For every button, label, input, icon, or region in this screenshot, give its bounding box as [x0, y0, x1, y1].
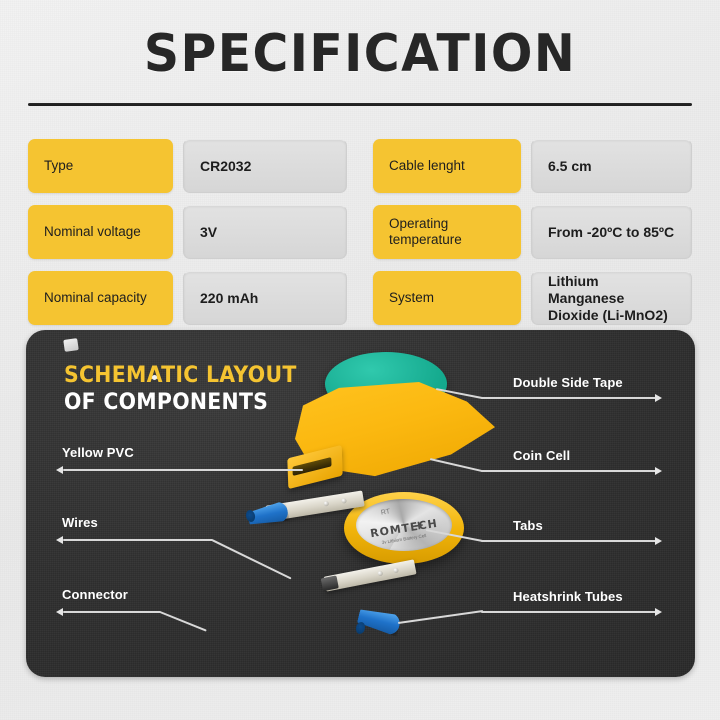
- schematic-panel: SCHEMATIC LAYOUT OF COMPONENTS RT ROMTEC…: [26, 330, 695, 677]
- tab-rivet: [377, 571, 383, 577]
- callout-arrow-left: [56, 536, 63, 544]
- title-divider: [28, 103, 692, 106]
- callout-arrow-right: [655, 467, 662, 475]
- page-root: SPECIFICATION Type CR2032 Cable lenght 6…: [0, 0, 720, 720]
- callout-label-coin-cell: Coin Cell: [513, 448, 570, 463]
- spec-row: Nominal capacity 220 mAh: [28, 271, 347, 325]
- tab-rivet: [323, 501, 329, 507]
- callout-arrow-right: [655, 394, 662, 402]
- callout-leader-yellow-pvc: [63, 469, 303, 471]
- connector-wing: [63, 338, 79, 352]
- spec-row: Nominal voltage 3V: [28, 205, 347, 259]
- callout-label-wires: Wires: [62, 515, 98, 530]
- spec-row: Type CR2032: [28, 139, 347, 193]
- spec-key: Nominal voltage: [28, 205, 173, 259]
- callout-arrow-left: [56, 608, 63, 616]
- callout-label-yellow-pvc: Yellow PVC: [62, 445, 134, 460]
- spec-value: 220 mAh: [183, 271, 347, 325]
- callout-arrow-left: [56, 466, 63, 474]
- callout-label-heatshrink-tubes: Heatshrink Tubes: [513, 589, 623, 604]
- callout-leader-double-side-tape: [481, 397, 657, 399]
- callout-leader-connector: [63, 611, 161, 613]
- callout-label-tabs: Tabs: [513, 518, 543, 533]
- page-title: SPECIFICATION: [22, 26, 699, 82]
- spec-key: Operating temperature: [373, 205, 521, 259]
- spec-row: System Lithium Manganese Dioxide (Li-MnO…: [373, 271, 692, 325]
- coin-cell-face: RT ROMTECH + 3v Lithium Battery Cell: [356, 499, 452, 551]
- callout-label-connector: Connector: [62, 587, 128, 602]
- callout-leader-tabs: [481, 540, 657, 542]
- specification-table: Type CR2032 Cable lenght 6.5 cm Nominal …: [28, 139, 692, 325]
- callout-arrow-right: [655, 537, 662, 545]
- callout-anchor-dot: [152, 375, 157, 380]
- spec-key: Cable lenght: [373, 139, 521, 193]
- tab-rivet: [393, 568, 399, 574]
- tab-rivet: [341, 498, 347, 504]
- callout-leader-wires: [63, 539, 213, 541]
- spec-key: System: [373, 271, 521, 325]
- callout-arrow-right: [655, 608, 662, 616]
- spec-value: 6.5 cm: [531, 139, 692, 193]
- spec-key: Nominal capacity: [28, 271, 173, 325]
- coin-cell-top-mark: RT: [380, 509, 390, 517]
- tab-tip: [321, 575, 339, 591]
- spec-value: 3V: [183, 205, 347, 259]
- spec-row: Operating temperature From -20ºC to 85ºC: [373, 205, 692, 259]
- spec-value: From -20ºC to 85ºC: [531, 205, 692, 259]
- spec-key: Type: [28, 139, 173, 193]
- callout-leader-coin-cell: [481, 470, 657, 472]
- tab-part: [323, 559, 416, 591]
- spec-row: Cable lenght 6.5 cm: [373, 139, 692, 193]
- spec-value: Lithium Manganese Dioxide (Li-MnO2): [531, 271, 692, 325]
- heatshrink-tube-opening: [355, 621, 367, 635]
- callout-label-double-side-tape: Double Side Tape: [513, 375, 623, 390]
- callout-leader-heatshrink-tubes: [481, 611, 657, 613]
- spec-value: CR2032: [183, 139, 347, 193]
